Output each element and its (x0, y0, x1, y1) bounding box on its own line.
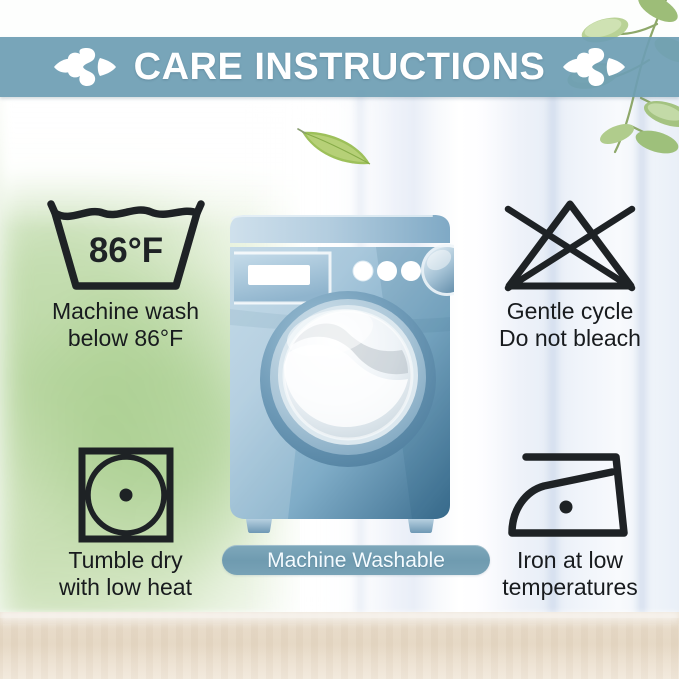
caption-line-1: Gentle cycle (507, 298, 634, 324)
washing-machine-illustration (226, 213, 454, 533)
caption-line-2: temperatures (502, 574, 638, 600)
iron-low-icon (500, 447, 640, 543)
caption-line-1: Tumble dry (68, 547, 182, 573)
caption-line-1: Machine wash (52, 298, 199, 324)
fleur-de-lis-icon (54, 46, 116, 88)
fleur-de-lis-icon (563, 46, 625, 88)
caption-line-2: below 86°F (68, 325, 183, 351)
care-symbol-caption: Tumble dry with low heat (59, 547, 192, 600)
care-symbol-caption: Iron at low temperatures (502, 547, 638, 600)
crossed-triangle-icon (495, 196, 645, 294)
care-symbol-tumble-dry: Tumble dry with low heat (18, 447, 233, 600)
care-symbol-do-not-bleach: Gentle cycle Do not bleach (470, 196, 670, 351)
machine-washable-badge: Machine Washable (222, 545, 490, 575)
care-symbol-machine-wash: 86°F Machine wash below 86°F (18, 196, 233, 351)
caption-line-2: Do not bleach (499, 325, 641, 351)
care-symbol-iron: Iron at low temperatures (470, 447, 670, 600)
table-highlight (0, 612, 679, 628)
floating-leaf-decoration (296, 120, 376, 170)
caption-line-2: with low heat (59, 574, 192, 600)
page-title: CARE INSTRUCTIONS (134, 48, 546, 86)
tumble-dry-low-icon (76, 447, 176, 543)
wash-basin-icon: 86°F (43, 196, 209, 294)
care-symbol-caption: Machine wash below 86°F (52, 298, 199, 351)
wash-temperature-label: 86°F (88, 231, 162, 270)
header-banner: CARE INSTRUCTIONS (0, 37, 679, 97)
caption-line-1: Iron at low (517, 547, 623, 573)
care-instructions-infographic: CARE INSTRUCTIONS 86°F Machine wash belo… (0, 0, 679, 679)
care-symbol-caption: Gentle cycle Do not bleach (499, 298, 641, 351)
badge-label: Machine Washable (267, 550, 445, 571)
